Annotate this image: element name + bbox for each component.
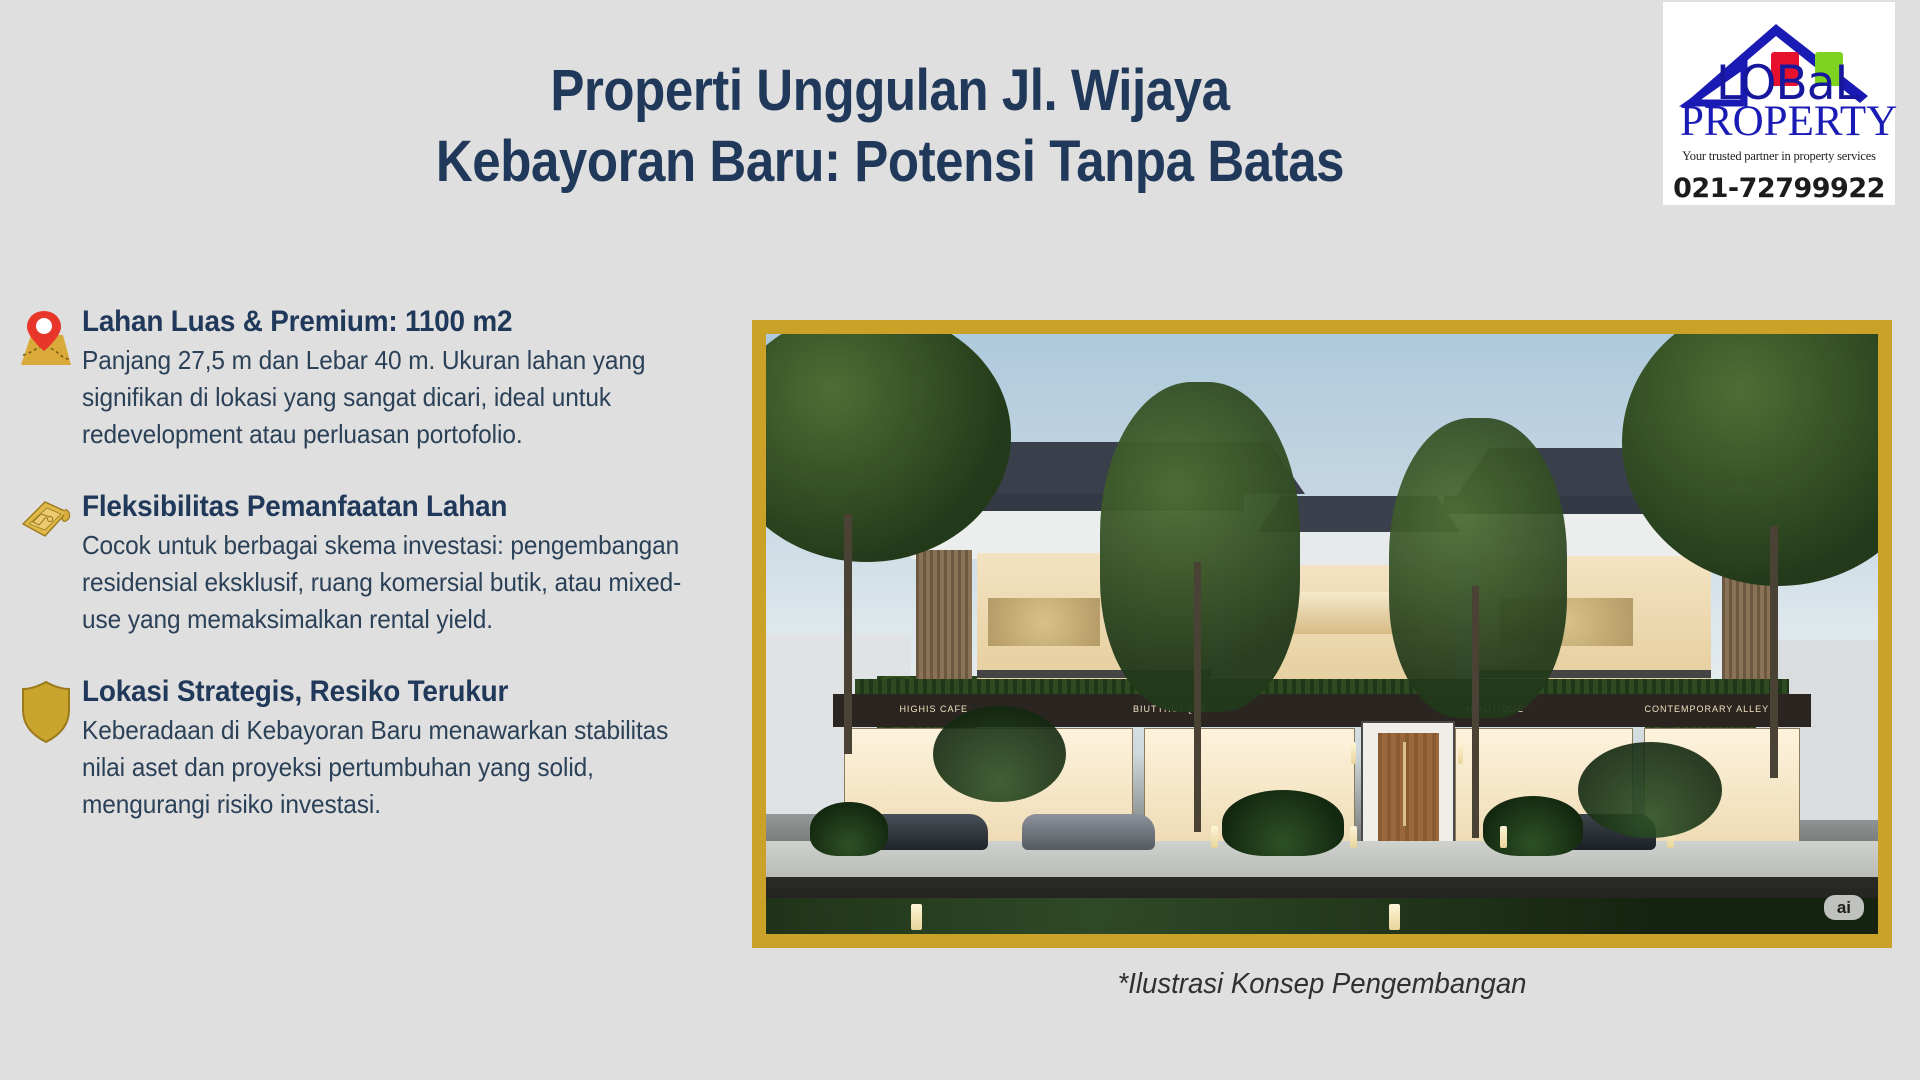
foreground-hedge [766,898,1878,934]
page-title-line-1: Properti Unggulan Jl. Wijaya [265,56,1515,127]
blueprint-scroll-icon [10,490,82,546]
page-title-line-2: Kebayoran Baru: Potensi Tanpa Batas [265,127,1515,198]
feature-title: Lokasi Strategis, Resiko Terukur [82,675,685,709]
ai-watermark-badge: ai [1824,895,1864,920]
logo-tagline: Your trusted partner in property service… [1682,149,1876,164]
tree-trunk-far-left [844,514,852,754]
feature-description: Panjang 27,5 m dan Lebar 40 m. Ukuran la… [82,342,691,453]
flowering-tree-left [933,706,1066,802]
shop-sign-1: HIGHIS CAFE [899,704,968,714]
logo-phone-number: 021-72799922 [1673,173,1885,204]
tree-trunk-center-left [1194,562,1201,832]
feature-body: Lokasi Strategis, Resiko Terukur Keberad… [82,675,730,823]
wall-sconce-left [1351,742,1356,764]
land-map-pin-icon [10,305,82,371]
feature-description: Keberadaan di Kebayoran Baru menawarkan … [82,712,691,823]
timber-slats-left [916,550,972,682]
feature-body: Lahan Luas & Premium: 1100 m2 Panjang 27… [82,305,730,453]
wall-sconce-right [1458,742,1463,764]
feature-item-land-area: Lahan Luas & Premium: 1100 m2 Panjang 27… [10,305,730,453]
flowering-tree-right [1578,742,1723,838]
page-title: Properti Unggulan Jl. Wijaya Kebayoran B… [265,56,1515,198]
tree-trunk-far-right [1770,526,1778,778]
property-illustration-image: HIGHIS CAFE BIUTTHUTQUE H AUTIQUE CONTEM… [766,334,1878,934]
garden-lantern-2 [1389,904,1400,930]
feature-body: Fleksibilitas Pemanfaatan Lahan Cocok un… [82,490,730,638]
side-shrub-left [810,802,888,856]
parked-car-2 [1022,814,1155,850]
tree-trunk-center-right [1472,586,1479,838]
feature-item-location: Lokasi Strategis, Resiko Terukur Keberad… [10,675,730,823]
feature-list: Lahan Luas & Premium: 1100 m2 Panjang 27… [10,305,730,860]
bollard-light-2 [1350,826,1357,848]
logo-mark: LOBaL PROPERTY [1672,8,1886,130]
feature-title: Fleksibilitas Pemanfaatan Lahan [82,490,685,524]
illustration-caption: *Ilustrasi Konsep Pengembangan [781,968,1864,1001]
garden-lantern-1 [911,904,922,930]
shield-icon [10,675,82,745]
property-illustration-frame: HIGHIS CAFE BIUTTHUTQUE H AUTIQUE CONTEM… [752,320,1892,948]
logo-word-property: PROPERTY [1680,100,1880,143]
door-handle [1403,742,1406,826]
feature-description: Cocok untuk berbagai skema investasi: pe… [82,527,691,638]
main-entrance-door [1378,733,1439,841]
entrance-shrub-right [1483,796,1583,856]
bollard-light-3 [1500,826,1507,848]
entrance-shrub-left [1222,790,1344,856]
feature-item-flexibility: Fleksibilitas Pemanfaatan Lahan Cocok un… [10,490,730,638]
feature-title: Lahan Luas & Premium: 1100 m2 [82,305,685,339]
bollard-light-1 [1211,826,1218,848]
interior-lights-left [988,598,1099,646]
shop-sign-4: CONTEMPORARY ALLEY [1644,704,1769,714]
brand-logo-card: LOBaL PROPERTY Your trusted partner in p… [1663,2,1895,205]
